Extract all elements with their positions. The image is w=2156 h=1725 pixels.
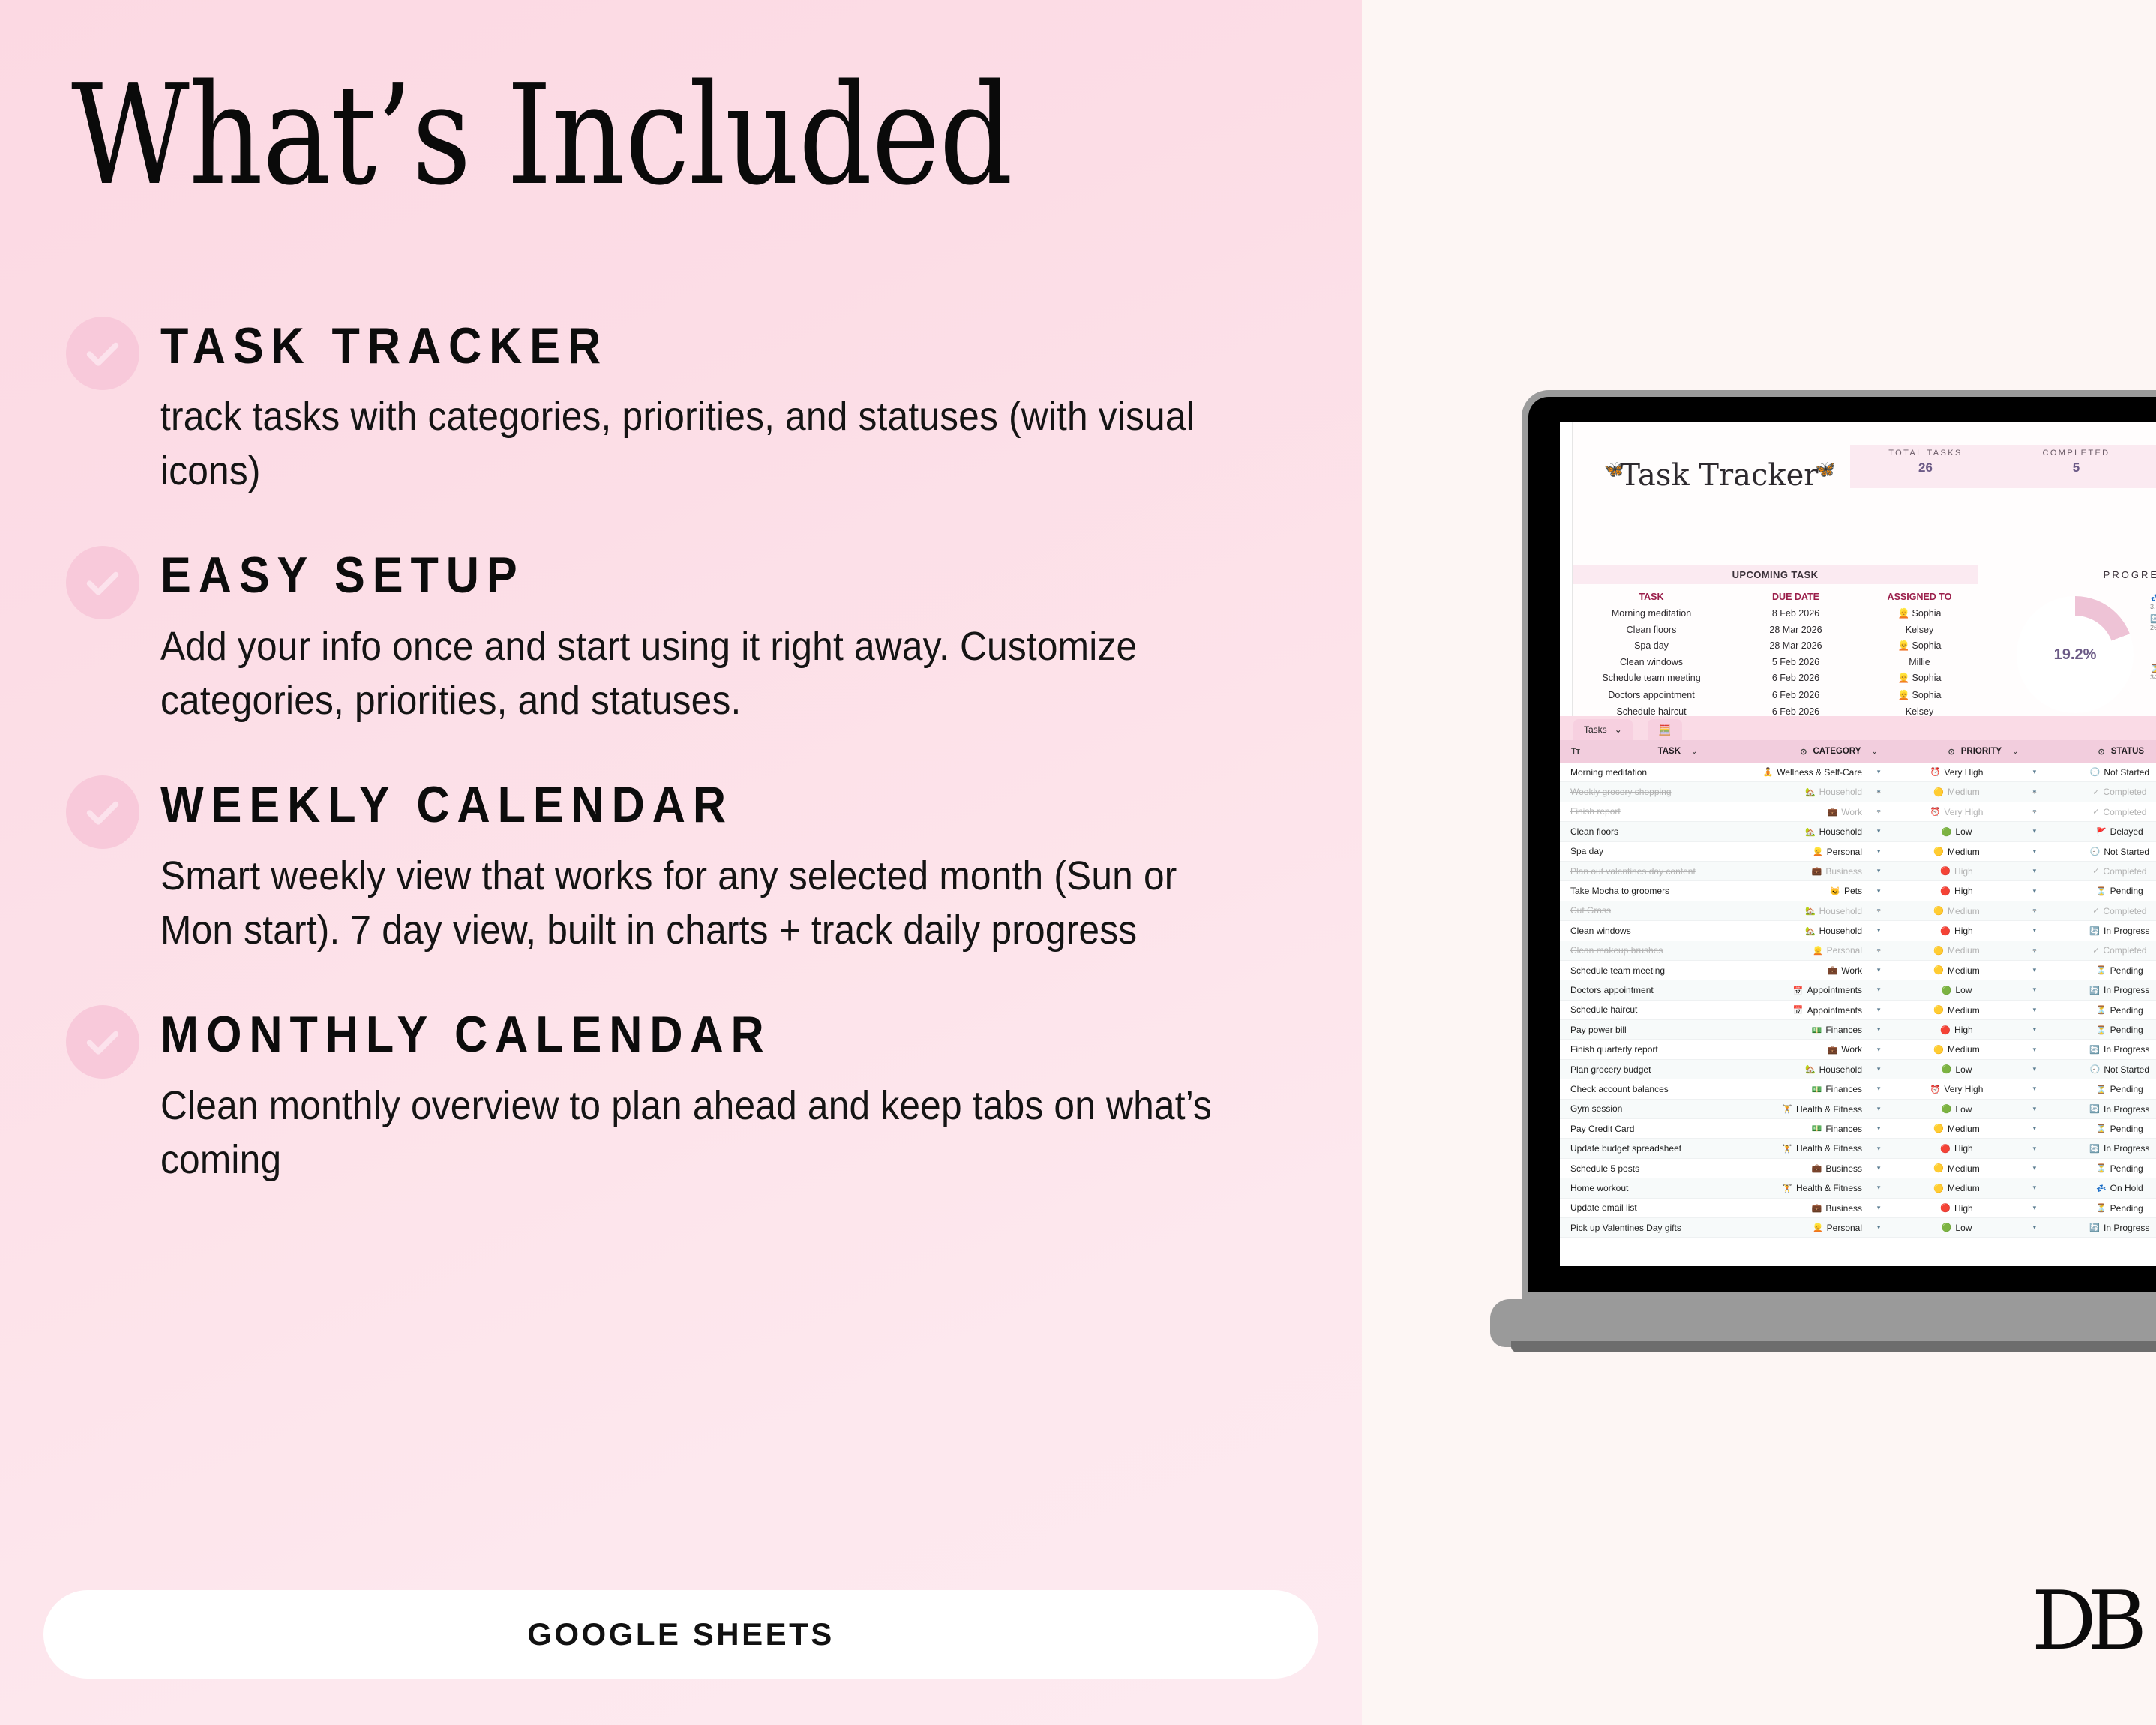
cell-priority: 🟡Medium [1891, 846, 2023, 857]
cell-status: 🔄In Progress [2047, 1222, 2156, 1233]
feature-title: WEEKLY CALENDAR [160, 772, 1223, 832]
column-header-category[interactable]: ⊙ CATEGORY⌄ [1764, 740, 1914, 763]
column-label: TASK [1658, 747, 1681, 756]
table-row: Clean floors28 Mar 2026Kelsey [1573, 622, 1978, 637]
table-row[interactable]: Spa day👱Personal▾🟡Medium▾🕘Not Started▾👱 … [1560, 842, 2156, 862]
column-header-due-date: DUE DATE [1730, 592, 1861, 602]
category-label: Personal [1827, 847, 1862, 857]
table-row[interactable]: Schedule team meeting💼Work▾🟡Medium▾⏳Pend… [1560, 961, 2156, 980]
status-label: Pending [2110, 1084, 2143, 1094]
check-mark-icon [82, 562, 124, 604]
status-icon: 🕘 [2090, 847, 2101, 856]
cell-task: Clean floors [1560, 826, 1724, 837]
feature-description: Smart weekly view that works for any sel… [160, 849, 1246, 958]
chevron-down-icon[interactable]: ▾ [2023, 827, 2047, 835]
check-mark-icon [82, 332, 124, 374]
category-label: Appointments [1807, 985, 1862, 995]
legend-percent: 34.6% [2150, 673, 2156, 681]
priority-label: Low [1955, 1222, 1972, 1233]
cell-category: 🏡Household [1724, 1063, 1867, 1075]
cell-task: Clean makeup brushes [1560, 945, 1724, 955]
priority-label: Low [1955, 826, 1972, 837]
cell-priority: 🟡Medium [1891, 905, 2023, 916]
chevron-down-icon[interactable]: ▾ [2023, 788, 2047, 796]
chevron-down-icon[interactable]: ▾ [1867, 1183, 1891, 1192]
cell-task: Check account balances [1560, 1084, 1724, 1094]
status-icon: 🕘 [2090, 1064, 2101, 1074]
cell-due-date: 28 Mar 2026 [1730, 640, 1861, 652]
cell-priority: ⏰Very High [1891, 766, 2023, 778]
priority-icon: ⏰ [1930, 767, 1941, 777]
category-label: Wellness & Self-Care [1777, 767, 1862, 778]
cell-category: 💼Work [1724, 1044, 1867, 1055]
category-label: Household [1819, 925, 1862, 936]
check-mark-icon [82, 1021, 124, 1063]
table-row[interactable]: Clean windows🏡Household▾🔴High▾🔄In Progre… [1560, 921, 2156, 940]
progress-chart: 19.2% 💤 On Hold 3.8% 🔄 In Progress 26.9% [1978, 589, 2156, 716]
status-label: In Progress [2104, 985, 2149, 995]
cell-task: Schedule 5 posts [1560, 1163, 1724, 1174]
chevron-down-icon[interactable]: ⌄ [1691, 748, 1697, 756]
cell-status: ✓Completed [2047, 945, 2156, 956]
task-tracker-title: 🦋Task Tracker🦋 [1604, 458, 1836, 493]
priority-icon: 🔴 [1940, 886, 1951, 896]
chevron-down-icon[interactable]: ▾ [2023, 907, 2047, 915]
cell-due-date: 8 Feb 2026 [1730, 608, 1861, 619]
table-row: Spa day28 Mar 2026👱 Sophia [1573, 637, 1978, 654]
chevron-down-icon[interactable]: ▾ [2023, 946, 2047, 955]
filter-icon[interactable]: ⊙ [2098, 747, 2105, 757]
chevron-down-icon[interactable]: ▾ [1867, 1006, 1891, 1014]
task-tracker-title-text: Task Tracker [1620, 458, 1818, 493]
chevron-down-icon[interactable]: ▾ [1867, 1105, 1891, 1113]
check-circle-icon [66, 316, 139, 390]
status-icon: 🔄 [2089, 1222, 2100, 1232]
priority-icon: 🟡 [1933, 1123, 1944, 1133]
cell-task: Update email list [1560, 1202, 1724, 1213]
category-label: Finances [1825, 1084, 1862, 1094]
chevron-down-icon[interactable]: ▾ [2023, 1006, 2047, 1014]
cell-task: Finish report [1560, 806, 1724, 817]
status-icon: 🔄 [2089, 985, 2100, 995]
butterfly-icon: 🦋 [1815, 460, 1835, 479]
column-header-assigned-to: ASSIGNED TO [1861, 592, 1978, 602]
category-label: Personal [1827, 1222, 1862, 1233]
status-label: Pending [2110, 965, 2143, 976]
cell-category: 🏡Household [1724, 826, 1867, 838]
chevron-down-icon[interactable]: ▾ [1867, 808, 1891, 816]
table-row[interactable]: Take Mocha to groomers🐱Pets▾🔴High▾⏳Pendi… [1560, 881, 2156, 901]
feature-title: MONTHLY CALENDAR [160, 1002, 1223, 1061]
tasks-sheet: Tasks ⌄ 🧮 Tт TASK⌄ ⊙ CATEGORY⌄ [1560, 716, 2156, 1266]
chevron-down-icon[interactable]: ▾ [2023, 1045, 2047, 1054]
priority-icon: 🟢 [1942, 1104, 1952, 1114]
chevron-down-icon[interactable]: ▾ [2023, 867, 2047, 875]
cell-task: Schedule team meeting [1560, 965, 1724, 976]
cell-category: 📅Appointments [1724, 985, 1867, 996]
chevron-down-icon[interactable]: ▾ [1867, 1124, 1891, 1132]
category-icon: 🏡 [1805, 827, 1816, 837]
cell-category: 👱Personal [1724, 846, 1867, 857]
chevron-down-icon[interactable]: ▾ [2023, 808, 2047, 816]
cell-category: 📅Appointments [1724, 1004, 1867, 1015]
cell-task: Spa day [1573, 640, 1730, 652]
status-icon: ⏳ [2096, 965, 2107, 975]
chevron-down-icon[interactable]: ▾ [2023, 847, 2047, 856]
category-label: Business [1825, 1203, 1862, 1213]
priority-icon: ⏰ [1930, 1084, 1941, 1094]
priority-icon: 🟡 [1933, 1005, 1944, 1015]
cell-status: ⏳Pending [2047, 1202, 2156, 1213]
chevron-down-icon[interactable]: ▾ [2023, 1105, 2047, 1113]
table-row[interactable]: Check account balances💵Finances▾⏰Very Hi… [1560, 1079, 2156, 1099]
category-icon: 👱 [1813, 946, 1823, 955]
status-icon: 🕘 [2090, 767, 2101, 777]
chevron-down-icon[interactable]: ⌄ [2012, 748, 2018, 756]
cell-category: 🏋Health & Fitness [1724, 1143, 1867, 1154]
cell-task: Morning meditation [1560, 767, 1724, 778]
chevron-down-icon[interactable]: ▾ [2023, 1164, 2047, 1172]
status-icon: ✓ [2092, 906, 2099, 916]
table-row[interactable]: Update email list💼Business▾🔴High▾⏳Pendin… [1560, 1198, 2156, 1218]
table-row[interactable]: Weekly grocery shopping🏡Household▾🟡Mediu… [1560, 782, 2156, 802]
priority-icon: 🟡 [1933, 847, 1944, 856]
status-label: Completed [2103, 807, 2146, 817]
cell-category: 🏋Health & Fitness [1724, 1183, 1867, 1194]
cell-task: Spa day [1560, 846, 1724, 856]
table-row[interactable]: Pick up Valentines Day gifts👱Personal▾🟢L… [1560, 1218, 2156, 1237]
table-row: Morning meditation8 Feb 2026👱 Sophia [1573, 605, 1978, 622]
table-row[interactable]: Cut Grass🏡Household▾🟡Medium▾✓Completed▾ … [1560, 901, 2156, 921]
cell-task: Gym session [1560, 1103, 1724, 1114]
table-row[interactable]: Home workout🏋Health & Fitness▾🟡Medium▾💤O… [1560, 1178, 2156, 1198]
category-label: Work [1841, 965, 1862, 976]
status-label: Not Started [2104, 767, 2149, 778]
chevron-down-icon[interactable]: ▾ [1867, 985, 1891, 994]
status-label: Completed [2103, 945, 2146, 955]
chevron-down-icon[interactable]: ▾ [1867, 867, 1891, 875]
feature-item-task-tracker: TASK TRACKER track tasks with categories… [66, 313, 1341, 498]
chevron-down-icon[interactable]: ▾ [1867, 788, 1891, 796]
cell-task: Cut Grass [1560, 905, 1724, 916]
chevron-down-icon[interactable]: ▾ [1867, 1204, 1891, 1212]
filter-icon[interactable]: ⊙ [1948, 747, 1955, 757]
table-row[interactable]: Clean makeup brushes👱Personal▾🟡Medium▾✓C… [1560, 941, 2156, 961]
cell-status: ⏳Pending [2047, 964, 2156, 976]
table-row[interactable]: Plan out valentines day content💼Business… [1560, 862, 2156, 881]
category-icon: 🏡 [1805, 906, 1816, 916]
legend-percent: 3.8% [2150, 603, 2156, 610]
priority-label: Very High [1944, 807, 1983, 817]
status-icon: ⏳ [2096, 1084, 2107, 1094]
stat-label: COMPLETED [2001, 448, 2152, 457]
category-icon: 🏡 [1805, 926, 1816, 936]
cell-category: 💵Finances [1724, 1084, 1867, 1095]
cell-priority: 🟢Low [1891, 1103, 2023, 1114]
progress-section-title: PROGRESS [1978, 565, 2156, 584]
chevron-down-icon[interactable]: ▾ [1867, 966, 1891, 974]
status-label: Pending [2110, 1005, 2143, 1015]
legend-percent: 26.9% [2150, 624, 2156, 631]
cell-task: Schedule team meeting [1573, 673, 1730, 684]
chevron-down-icon[interactable]: ▾ [1867, 1084, 1891, 1093]
cell-category: 🏡Household [1724, 925, 1867, 937]
table-row[interactable]: Schedule 5 posts💼Business▾🟡Medium▾⏳Pendi… [1560, 1159, 2156, 1178]
cell-task: Doctors appointment [1573, 690, 1730, 701]
chevron-down-icon[interactable]: ▾ [2023, 1065, 2047, 1073]
feature-description: Clean monthly overview to plan ahead and… [160, 1078, 1246, 1187]
cell-priority: 🟡Medium [1891, 787, 2023, 798]
priority-label: Medium [1948, 1123, 1980, 1134]
chevron-down-icon[interactable]: ▾ [1867, 1065, 1891, 1073]
cell-category: 💼Business [1724, 1202, 1867, 1213]
cell-category: 💼Business [1724, 865, 1867, 877]
cell-assigned-to: 👱 Sophia [1861, 673, 1978, 684]
chevron-down-icon[interactable]: ▾ [2023, 1144, 2047, 1153]
priority-icon: 🟡 [1933, 1183, 1944, 1193]
cell-category: 💼Business [1724, 1162, 1867, 1174]
chevron-down-icon[interactable]: ▾ [1867, 847, 1891, 856]
feature-list: TASK TRACKER track tasks with categories… [66, 313, 1341, 1231]
chevron-down-icon[interactable]: ▾ [1867, 1025, 1891, 1033]
cell-assigned-to: Kelsey [1861, 706, 1978, 717]
cell-category: 💼Work [1724, 806, 1867, 817]
chevron-down-icon[interactable]: ▾ [2023, 966, 2047, 974]
table-row[interactable]: Update budget spreadsheet🏋Health & Fitne… [1560, 1138, 2156, 1158]
status-icon: 🔄 [2089, 1045, 2100, 1054]
cell-status: 🔄In Progress [2047, 1143, 2156, 1154]
category-label: Business [1825, 866, 1862, 877]
category-icon: 🏡 [1805, 1064, 1816, 1074]
cell-task: Pay power bill [1560, 1024, 1724, 1035]
category-icon: 💵 [1812, 1025, 1822, 1035]
column-header-task[interactable]: TASK⌄ [1591, 740, 1764, 763]
stat-value: 26 [1850, 460, 2001, 475]
cell-status: 🕘Not Started [2047, 1063, 2156, 1075]
column-label: PRIORITY [1961, 747, 2002, 756]
priority-icon: 🔴 [1940, 1203, 1951, 1213]
cell-priority: 🟢Low [1891, 1222, 2023, 1233]
cell-task: Morning meditation [1573, 608, 1730, 619]
chevron-down-icon[interactable]: ▾ [1867, 768, 1891, 776]
cell-task: Pay Credit Card [1560, 1123, 1724, 1134]
priority-icon: 🔴 [1940, 926, 1951, 936]
status-icon: ✓ [2092, 946, 2099, 955]
priority-icon: ⏰ [1930, 807, 1941, 817]
status-icon: 🚩 [2096, 827, 2107, 837]
cell-status: 🔄In Progress [2047, 1103, 2156, 1114]
priority-icon: 🟢 [1942, 827, 1952, 837]
cell-assigned-to: Kelsey [1861, 625, 1978, 635]
column-header-priority[interactable]: ⊙ PRIORITY⌄ [1914, 740, 2053, 763]
category-icon: 🏋 [1782, 1104, 1792, 1114]
cell-task: Clean windows [1573, 657, 1730, 667]
table-row[interactable]: Finish report💼Work▾⏰Very High▾✓Completed… [1560, 802, 2156, 822]
category-label: Household [1819, 787, 1862, 797]
sheet-tab-tasks[interactable]: Tasks ⌄ [1573, 719, 1633, 740]
cell-status: ⏳Pending [2047, 1123, 2156, 1134]
progress-legend: 💤 On Hold 3.8% 🔄 In Progress 26.9% ⏳ Pen… [2150, 593, 2156, 685]
column-label: CATEGORY [1813, 747, 1861, 756]
cell-status: ⏳Pending [2047, 1084, 2156, 1095]
status-label: In Progress [2104, 1044, 2149, 1054]
cell-priority: 🟡Medium [1891, 945, 2023, 956]
chevron-down-icon[interactable]: ▾ [1867, 907, 1891, 915]
chevron-down-icon[interactable]: ▾ [2023, 1223, 2047, 1231]
feature-item-easy-setup: EASY SETUP Add your info once and start … [66, 543, 1341, 727]
priority-label: Very High [1944, 767, 1983, 778]
table-row: Schedule team meeting6 Feb 2026👱 Sophia [1573, 670, 1978, 687]
column-label: STATUS [2111, 747, 2144, 756]
feature-description: Add your info once and start using it ri… [160, 619, 1246, 728]
cell-priority: 🟡Medium [1891, 1183, 2023, 1194]
stat-completed: COMPLETED 5 [2001, 445, 2152, 488]
cell-task: Schedule haircut [1560, 1004, 1724, 1015]
chevron-down-icon[interactable]: ▾ [2023, 1204, 2047, 1212]
laptop-base-shadow [1511, 1341, 2156, 1352]
check-circle-icon [66, 1005, 139, 1078]
laptop-base [1490, 1299, 2156, 1347]
feature-title: EASY SETUP [160, 543, 1223, 602]
cell-assigned-to: Millie [1861, 657, 1978, 667]
filter-icon[interactable]: ⊙ [1800, 747, 1807, 757]
chevron-down-icon[interactable]: ▾ [2023, 887, 2047, 895]
cell-category: 👱Personal [1724, 945, 1867, 956]
cell-priority: 🔴High [1891, 1024, 2023, 1036]
chevron-down-icon[interactable]: ▾ [1867, 827, 1891, 835]
chevron-down-icon[interactable]: ▾ [2023, 985, 2047, 994]
priority-icon: 🟡 [1933, 787, 1944, 797]
status-label: Pending [2110, 1203, 2143, 1213]
cell-priority: 🟡Medium [1891, 1162, 2023, 1174]
status-label: In Progress [2104, 1143, 2149, 1153]
priority-label: Medium [1948, 945, 1980, 955]
sheet-column-header-row: Tт TASK⌄ ⊙ CATEGORY⌄ ⊙ PRIORITY⌄ ⊙ STAT [1560, 740, 2156, 763]
cell-priority: 🟢Low [1891, 985, 2023, 996]
cell-status: ✓Completed [2047, 787, 2156, 798]
chevron-down-icon[interactable]: ▾ [2023, 1084, 2047, 1093]
priority-label: Medium [1948, 787, 1980, 797]
cell-category: 🏋Health & Fitness [1724, 1103, 1867, 1114]
cell-category: 👱Personal [1724, 1222, 1867, 1233]
category-icon: 📅 [1793, 1005, 1804, 1015]
column-header-status[interactable]: ⊙ STATUS⌄ [2053, 740, 2156, 763]
status-label: Not Started [2104, 1064, 2149, 1075]
cell-priority: 🔴High [1891, 865, 2023, 877]
chevron-down-icon[interactable]: ▾ [2023, 926, 2047, 934]
sheet-rows-container: Morning meditation🧘Wellness & Self-Care▾… [1560, 763, 2156, 1266]
priority-label: Medium [1948, 906, 1980, 916]
chevron-down-icon[interactable]: ▾ [1867, 926, 1891, 934]
cell-status: ✓Completed [2047, 865, 2156, 877]
priority-label: High [1954, 866, 1973, 877]
chevron-down-icon[interactable]: ▾ [1867, 1223, 1891, 1231]
category-icon: 🏋 [1782, 1144, 1792, 1153]
table-row[interactable]: Clean floors🏡Household▾🟢Low▾🚩Delayed▾ Ke… [1560, 822, 2156, 841]
table-row[interactable]: Doctors appointment📅Appointments▾🟢Low▾🔄I… [1560, 980, 2156, 1000]
category-icon: 💼 [1812, 1163, 1822, 1173]
check-mark-icon [82, 791, 124, 833]
feature-item-weekly-calendar: WEEKLY CALENDAR Smart weekly view that w… [66, 772, 1341, 957]
table-row[interactable]: Morning meditation🧘Wellness & Self-Care▾… [1560, 763, 2156, 782]
legend-item-pending: ⏳ Pending 34.6% [2150, 664, 2156, 681]
table-row: Clean windows5 Feb 2026Millie [1573, 655, 1978, 670]
chevron-down-icon[interactable]: ▾ [1867, 1144, 1891, 1153]
chevron-down-icon[interactable]: ▾ [1867, 946, 1891, 955]
priority-icon: 🟡 [1933, 1163, 1944, 1173]
priority-label: Low [1955, 985, 1972, 995]
status-label: Completed [2103, 906, 2146, 916]
priority-label: Low [1955, 1064, 1972, 1075]
table-row[interactable]: Pay power bill💵Finances▾🔴High▾⏳Pending▾ … [1560, 1020, 2156, 1039]
check-circle-icon [66, 775, 139, 849]
google-sheets-button[interactable]: GOOGLE SHEETS [43, 1590, 1318, 1678]
chevron-down-icon[interactable]: ▾ [2023, 1124, 2047, 1132]
priority-icon: 🟡 [1933, 965, 1944, 975]
table-row[interactable]: Finish quarterly report💼Work▾🟡Medium▾🔄In… [1560, 1039, 2156, 1059]
cell-assigned-to: 👱 Sophia [1861, 640, 1978, 652]
status-label: Not Started [2104, 847, 2149, 857]
cell-task: Plan grocery budget [1560, 1064, 1724, 1075]
priority-icon: 🟢 [1942, 1064, 1952, 1074]
priority-label: High [1954, 886, 1973, 896]
cell-priority: 🔴High [1891, 886, 2023, 897]
category-label: Household [1819, 1064, 1862, 1075]
table-row[interactable]: Gym session🏋Health & Fitness▾🟢Low▾🔄In Pr… [1560, 1099, 2156, 1119]
cell-priority: ⏰Very High [1891, 1084, 2023, 1095]
cell-priority: 🟡Medium [1891, 1123, 2023, 1134]
category-icon: 🧘 [1762, 767, 1773, 777]
status-icon: ✓ [2092, 866, 2099, 876]
priority-label: Medium [1948, 1183, 1980, 1193]
category-label: Health & Fitness [1796, 1143, 1862, 1153]
table-row[interactable]: Schedule haircut📅Appointments▾🟡Medium▾⏳P… [1560, 1000, 2156, 1020]
status-icon: ⏳ [2096, 1123, 2107, 1133]
chevron-down-icon[interactable]: ▾ [1867, 1164, 1891, 1172]
cell-status: 💤On Hold [2047, 1183, 2156, 1194]
status-label: In Progress [2104, 1104, 2149, 1114]
chevron-down-icon[interactable]: ▾ [2023, 1025, 2047, 1033]
pending-icon: ⏳ [2150, 664, 2156, 673]
chevron-down-icon[interactable]: ▾ [1867, 887, 1891, 895]
stat-total-tasks: TOTAL TASKS 26 [1850, 445, 2001, 488]
chevron-down-icon[interactable]: ⌄ [1871, 748, 1877, 756]
cell-due-date: 6 Feb 2026 [1730, 690, 1861, 701]
status-label: Pending [2110, 1123, 2143, 1134]
cell-task: Schedule haircut [1573, 706, 1730, 717]
chevron-down-icon[interactable]: ▾ [2023, 1183, 2047, 1192]
chevron-down-icon[interactable]: ▾ [2023, 768, 2047, 776]
chevron-down-icon[interactable]: ⌄ [1615, 724, 1622, 735]
priority-icon: 🟡 [1933, 1045, 1944, 1054]
priority-label: High [1954, 925, 1973, 936]
table-row[interactable]: Plan grocery budget🏡Household▾🟢Low▾🕘Not … [1560, 1060, 2156, 1079]
left-pink-panel: What’s Included TASK TRACKER track tasks… [0, 0, 1362, 1725]
priority-label: High [1954, 1143, 1973, 1153]
status-label: On Hold [2110, 1183, 2143, 1193]
sheet-tab-calculator[interactable]: 🧮 [1648, 719, 1682, 740]
in-progress-icon: 🔄 [2150, 615, 2156, 624]
chevron-down-icon[interactable]: ▾ [1867, 1045, 1891, 1054]
category-icon: 💵 [1812, 1084, 1822, 1094]
priority-label: Medium [1948, 1163, 1980, 1174]
cell-task: Doctors appointment [1560, 985, 1724, 995]
cell-task: Take Mocha to groomers [1560, 886, 1724, 896]
status-label: Pending [2110, 886, 2143, 896]
category-label: Health & Fitness [1796, 1104, 1862, 1114]
table-row[interactable]: Pay Credit Card💵Finances▾🟡Medium▾⏳Pendin… [1560, 1119, 2156, 1138]
cell-status: 🔄In Progress [2047, 1044, 2156, 1055]
